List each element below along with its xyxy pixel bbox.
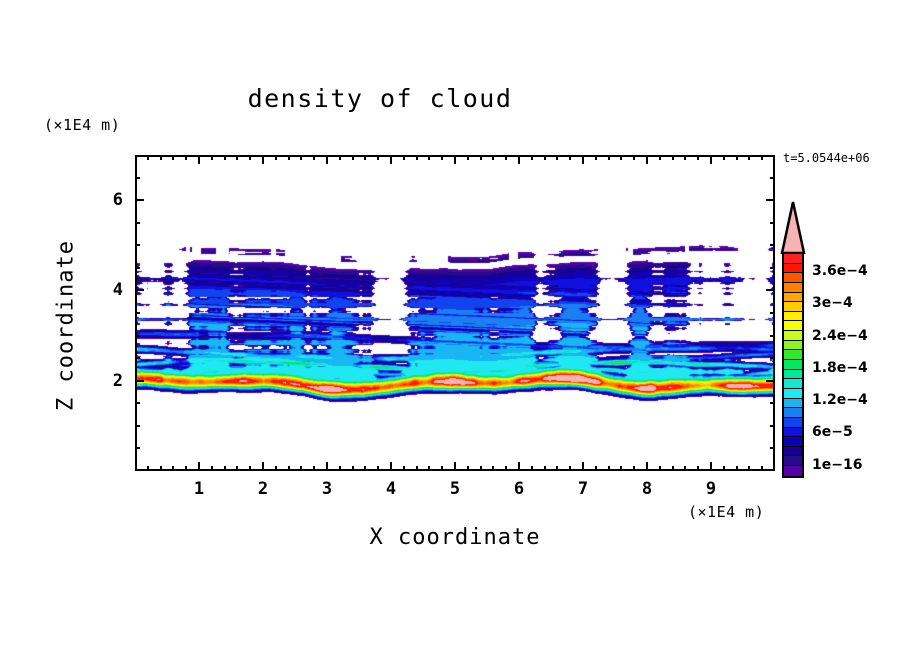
x-tick-minor [672,466,674,471]
y-tick-minor-right [770,335,775,337]
y-tick-label: 4 [93,280,123,300]
x-tick-minor [352,466,354,471]
timestamp-label: t=5.0544e+06 [783,151,870,165]
x-tick-minor-top [224,155,226,160]
colorbar-band [784,312,802,322]
x-axis-title: X coordinate [135,525,775,550]
x-tick-minor-top [441,155,443,160]
y-tick-minor [135,335,140,337]
y-tick-minor [135,357,140,359]
contour-plot-canvas [137,157,773,469]
x-tick-minor-top [172,155,174,160]
y-tick-minor [135,425,140,427]
x-tick-minor [211,466,213,471]
x-tick-minor-top [403,155,405,160]
colorbar-tick-label: 3e−4 [812,295,853,311]
colorbar-band [784,360,802,370]
colorbar-band [784,283,802,293]
colorbar-over-arrow-icon [779,200,807,254]
y-tick-minor [135,244,140,246]
x-tick-minor-top [595,155,597,160]
colorbar-band [784,302,802,312]
x-tick-minor-top [544,155,546,160]
colorbar-band [784,264,802,274]
x-tick-major-top [646,155,648,164]
x-tick-minor [403,466,405,471]
x-tick-minor-top [672,155,674,160]
x-tick-minor-top [736,155,738,160]
x-tick-major [582,462,584,471]
colorbar-band [784,389,802,399]
x-tick-minor [569,466,571,471]
x-tick-minor [492,466,494,471]
colorbar-band [784,379,802,389]
y-tick-minor-right [770,357,775,359]
x-tick-minor-top [275,155,277,160]
x-tick-minor [480,466,482,471]
x-tick-minor-top [236,155,238,160]
x-tick-minor-top [313,155,315,160]
x-tick-minor [761,466,763,471]
x-tick-major [198,462,200,471]
x-tick-minor-top [748,155,750,160]
y-tick-minor [135,177,140,179]
plot-area [135,155,775,471]
x-tick-minor [300,466,302,471]
x-tick-minor [441,466,443,471]
x-tick-label: 1 [184,479,214,499]
x-tick-minor [313,466,315,471]
x-tick-minor [428,466,430,471]
x-tick-minor [275,466,277,471]
x-tick-minor-top [492,155,494,160]
colorbar-tick-label: 1e−16 [812,457,862,473]
colorbar-band [784,370,802,380]
x-tick-major-top [710,155,712,164]
x-tick-minor [595,466,597,471]
x-tick-minor-top [185,155,187,160]
x-tick-minor [748,466,750,471]
x-tick-major-top [390,155,392,164]
y-tick-minor-right [770,267,775,269]
x-tick-minor [147,466,149,471]
x-tick-major [518,462,520,471]
y-tick-minor-right [770,402,775,404]
y-tick-major-right [766,199,775,201]
y-tick-minor-right [770,312,775,314]
colorbar-tick-label: 3.6e−4 [812,263,868,279]
x-tick-minor-top [569,155,571,160]
x-tick-minor-top [697,155,699,160]
x-tick-minor-top [505,155,507,160]
x-tick-minor-top [467,155,469,160]
x-tick-minor-top [147,155,149,160]
x-tick-minor-top [377,155,379,160]
x-tick-minor [416,466,418,471]
colorbar-band [784,341,802,351]
y-tick-minor-right [770,447,775,449]
colorbar-tick-label: 1.8e−4 [812,360,868,376]
x-tick-minor [467,466,469,471]
x-tick-minor [236,466,238,471]
x-tick-minor-top [288,155,290,160]
x-tick-minor [723,466,725,471]
x-tick-major [326,462,328,471]
y-tick-minor [135,267,140,269]
colorbar-band [784,428,802,438]
y-tick-major [135,199,144,201]
x-tick-minor [684,466,686,471]
colorbar-band [784,408,802,418]
x-tick-minor-top [531,155,533,160]
x-tick-major [262,462,264,471]
x-tick-major-top [582,155,584,164]
colorbar-tick-label: 2.4e−4 [812,328,868,344]
colorbar-band [784,254,802,264]
x-tick-minor-top [620,155,622,160]
x-tick-minor [249,466,251,471]
colorbar-band [784,293,802,303]
x-tick-minor [736,466,738,471]
x-tick-minor [364,466,366,471]
y-tick-major [135,289,144,291]
x-tick-minor-top [659,155,661,160]
y-tick-minor-right [770,177,775,179]
y-tick-major-right [766,289,775,291]
y-tick-major [135,380,144,382]
x-tick-label: 3 [312,479,342,499]
x-tick-major-top [326,155,328,164]
colorbar-band [784,418,802,428]
y-tick-minor-right [770,222,775,224]
y-tick-label: 2 [93,371,123,391]
y-tick-minor-right [770,425,775,427]
x-tick-label: 8 [632,479,662,499]
x-tick-minor [659,466,661,471]
x-tick-minor-top [608,155,610,160]
x-tick-minor-top [160,155,162,160]
colorbar-band [784,273,802,283]
x-tick-minor [339,466,341,471]
y-tick-minor [135,222,140,224]
y-axis-unit-label: (×1E4 m) [44,116,120,134]
x-tick-label: 2 [248,479,278,499]
x-tick-major [390,462,392,471]
colorbar-band [784,447,802,457]
colorbar-tick-label: 1.2e−4 [812,392,868,408]
colorbar-band [784,399,802,409]
y-tick-minor [135,312,140,314]
y-tick-major-right [766,380,775,382]
x-tick-minor [505,466,507,471]
colorbar-band [784,466,802,476]
x-tick-minor-top [300,155,302,160]
x-tick-minor-top [480,155,482,160]
x-tick-minor-top [416,155,418,160]
x-axis-unit-label: (×1E4 m) [688,503,764,521]
y-tick-minor [135,447,140,449]
x-tick-major [646,462,648,471]
x-tick-major-top [454,155,456,164]
colorbar-band [784,331,802,341]
y-tick-minor [135,402,140,404]
x-tick-minor-top [556,155,558,160]
x-tick-minor [556,466,558,471]
x-tick-minor [185,466,187,471]
colorbar-band [784,456,802,466]
x-tick-minor-top [428,155,430,160]
x-tick-minor [608,466,610,471]
x-tick-major [710,462,712,471]
x-tick-label: 7 [568,479,598,499]
colorbar-bands [782,252,804,478]
x-tick-minor-top [339,155,341,160]
x-tick-minor [377,466,379,471]
page-title: density of cloud [0,84,760,113]
colorbar-tick-label: 6e−5 [812,424,853,440]
x-tick-minor-top [684,155,686,160]
x-tick-minor-top [364,155,366,160]
x-tick-label: 9 [696,479,726,499]
x-tick-minor-top [633,155,635,160]
x-tick-minor-top [761,155,763,160]
x-tick-minor [160,466,162,471]
y-axis-title: Z coordinate [54,226,79,426]
x-tick-label: 5 [440,479,470,499]
x-tick-minor-top [723,155,725,160]
x-tick-minor-top [352,155,354,160]
x-tick-major-top [198,155,200,164]
x-tick-minor [531,466,533,471]
x-tick-minor [633,466,635,471]
y-tick-label: 6 [93,190,123,210]
x-tick-minor [620,466,622,471]
x-tick-minor [224,466,226,471]
x-tick-minor [288,466,290,471]
x-tick-major-top [262,155,264,164]
colorbar-band [784,437,802,447]
colorbar-band [784,350,802,360]
x-tick-minor [172,466,174,471]
x-tick-minor-top [249,155,251,160]
x-tick-label: 6 [504,479,534,499]
x-tick-label: 4 [376,479,406,499]
x-tick-major [454,462,456,471]
x-tick-major-top [518,155,520,164]
colorbar-band [784,321,802,331]
x-tick-minor [697,466,699,471]
y-tick-minor-right [770,244,775,246]
x-tick-minor [544,466,546,471]
x-tick-minor-top [211,155,213,160]
